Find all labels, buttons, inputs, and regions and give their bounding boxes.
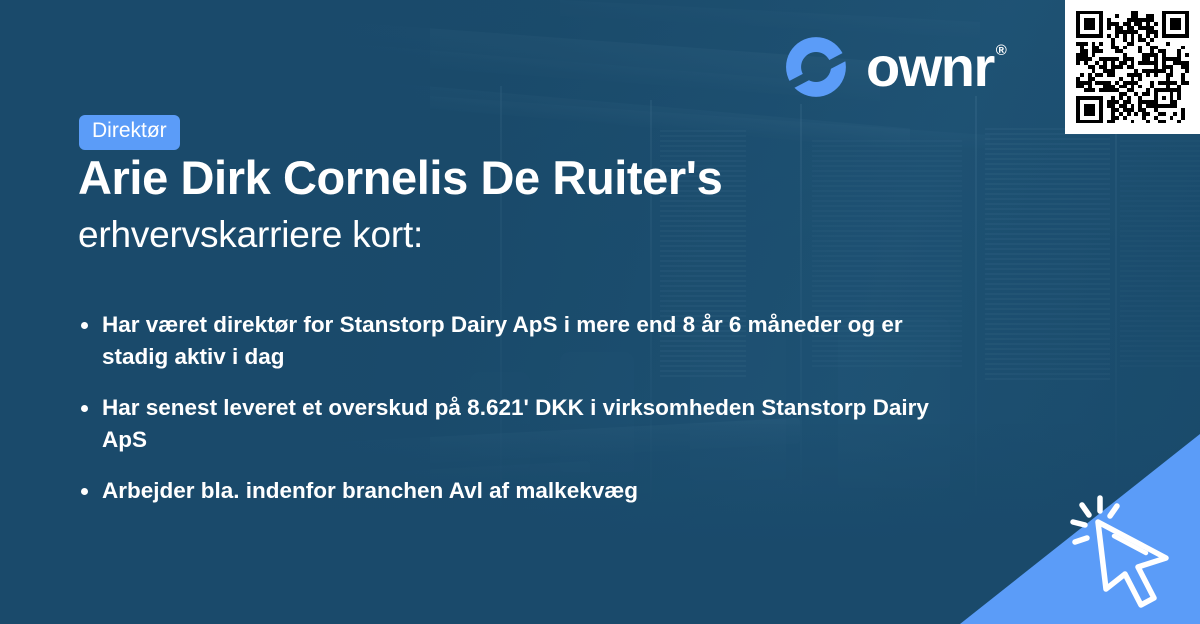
career-fact-item: Har senest leveret et overskud på 8.621'… xyxy=(78,392,958,456)
career-facts-list: Har været direktør for Stanstorp Dairy A… xyxy=(78,309,958,526)
qr-code-panel[interactable] xyxy=(1065,0,1200,134)
career-fact-item: Arbejder bla. indenfor branchen Avl af m… xyxy=(78,475,958,507)
registered-trademark-icon: ® xyxy=(996,43,1006,58)
career-fact-item: Har været direktør for Stanstorp Dairy A… xyxy=(78,309,958,373)
role-badge: Direktør xyxy=(79,115,180,150)
ownr-logo[interactable]: ownr ® xyxy=(782,33,1005,101)
career-card-canvas: ownr ® Direktør Arie Dirk Cornelis De Ru… xyxy=(0,0,1200,624)
ownr-wordmark: ownr ® xyxy=(866,39,1005,95)
ownr-wordmark-text: ownr xyxy=(866,39,994,95)
page-subtitle: erhvervskarriere kort: xyxy=(78,213,423,257)
page-title: Arie Dirk Cornelis De Ruiter's xyxy=(78,152,722,205)
qr-code-icon[interactable] xyxy=(1076,11,1189,124)
ownr-circle-swoosh-icon xyxy=(782,33,850,101)
